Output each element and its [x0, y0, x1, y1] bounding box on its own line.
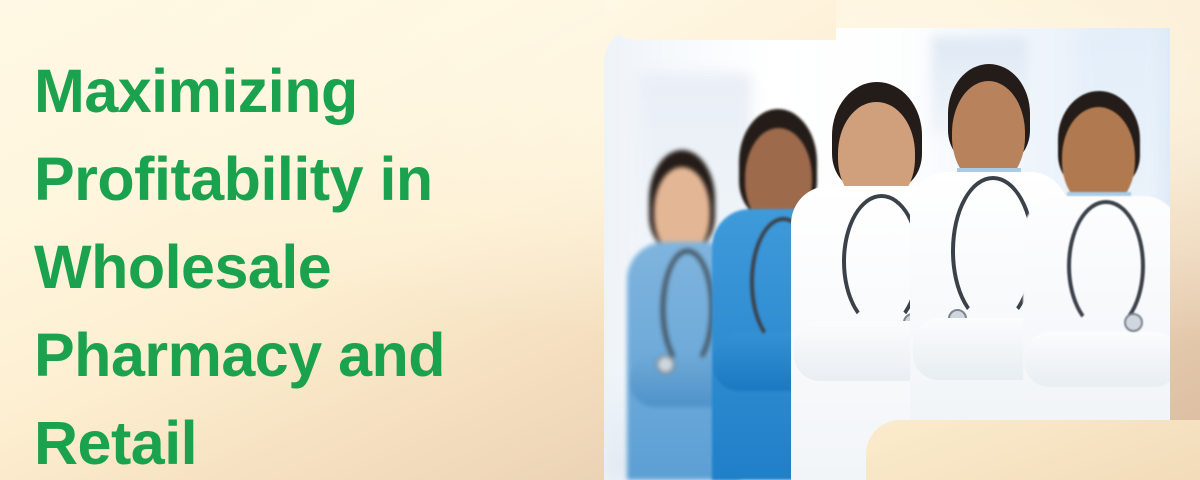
stethoscope-bell-icon — [1124, 313, 1143, 332]
corner-notch-top-left — [604, 0, 836, 40]
hero-photo — [604, 28, 1170, 480]
stethoscope-icon — [661, 249, 714, 369]
stethoscope-bell-icon — [656, 355, 675, 374]
page-title: Maximizing Profitability in Wholesale Ph… — [34, 47, 554, 480]
promo-banner: Maximizing Profitability in Wholesale Ph… — [0, 0, 1200, 480]
crossed-arms — [1024, 332, 1170, 386]
corner-notch-bottom-right — [866, 420, 1200, 480]
